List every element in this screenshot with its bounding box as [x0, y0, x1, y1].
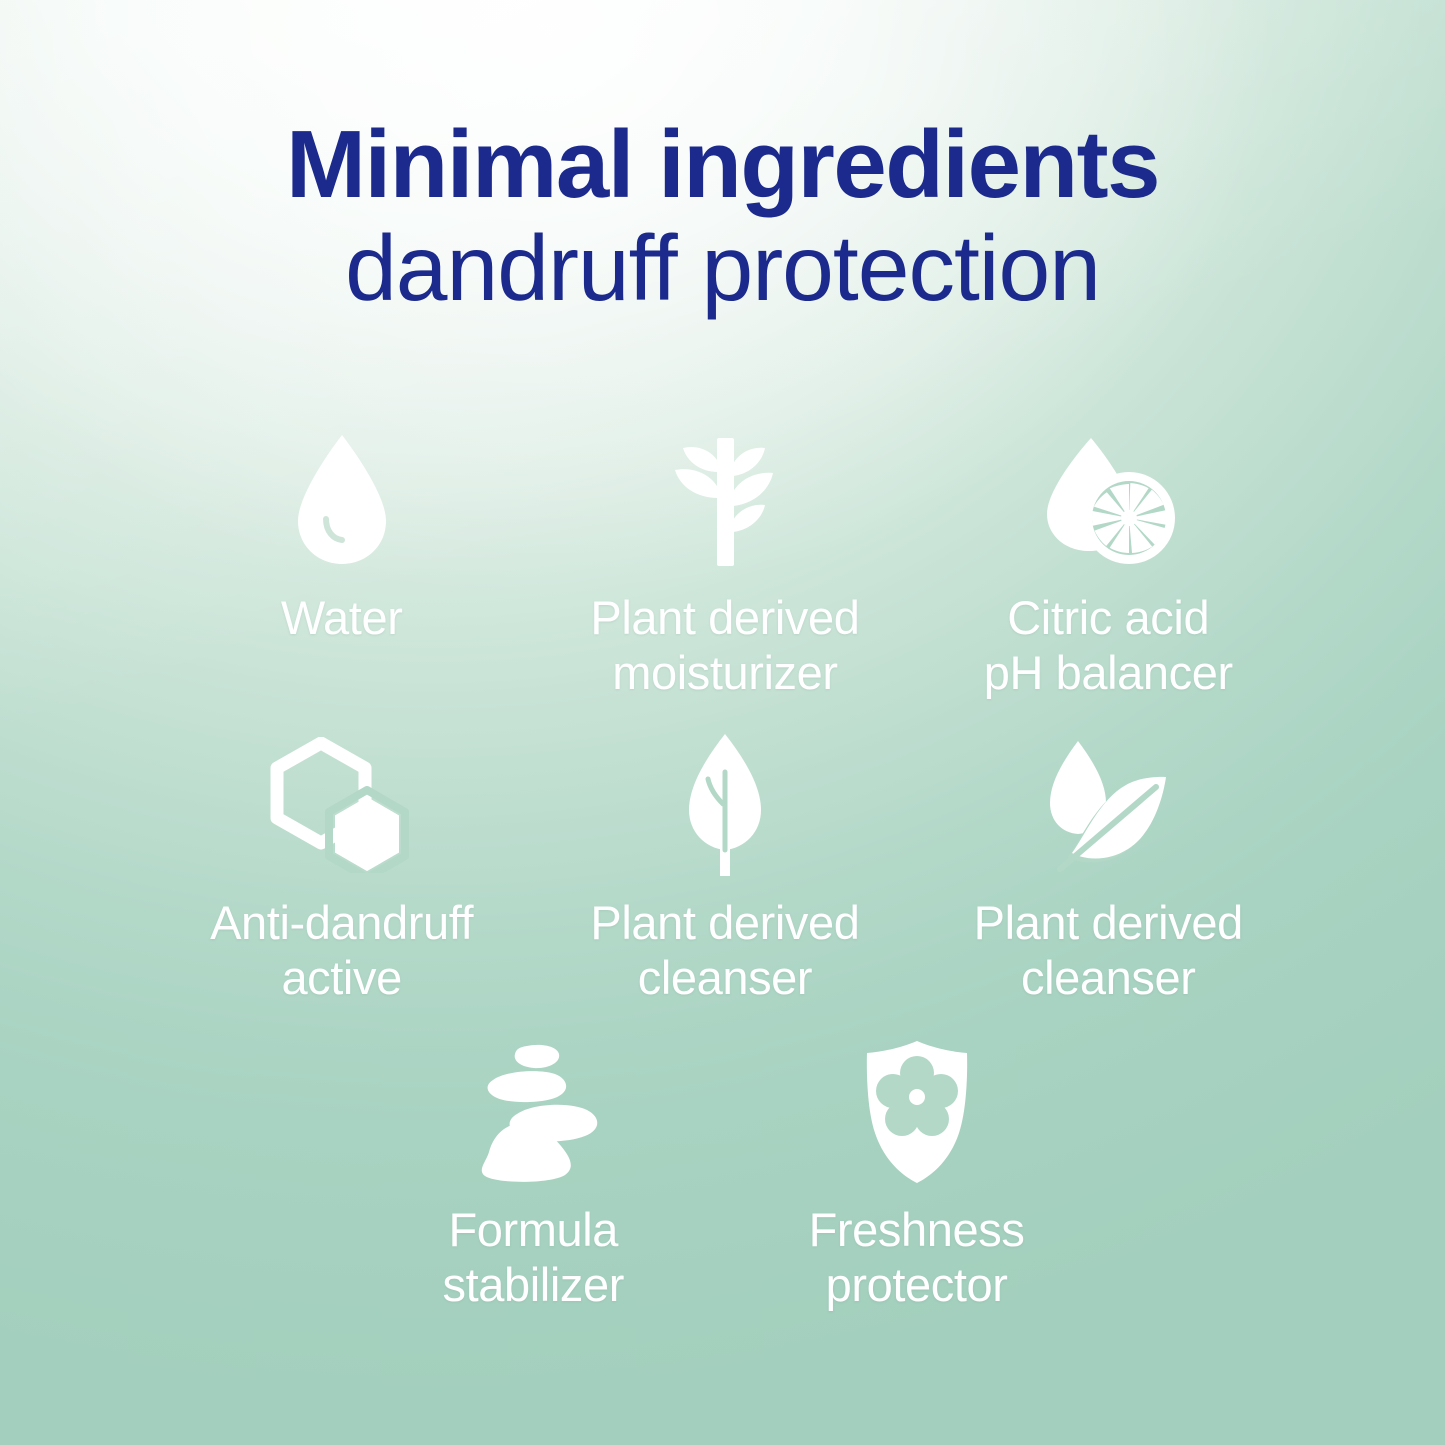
ingredient-label: Citric acid pH balancer — [984, 590, 1233, 701]
ingredient-label: Plant derived moisturizer — [590, 590, 859, 701]
stacked-stones-icon — [459, 1032, 607, 1192]
ingredient-label: Formula stabilizer — [443, 1202, 624, 1313]
ingredient-label: Water — [281, 590, 403, 645]
ingredient-item-citric-acid: Citric acid pH balancer — [917, 420, 1300, 701]
ingredient-label: Plant derived cleanser — [590, 895, 859, 1006]
ingredient-label: Freshness protector — [809, 1202, 1025, 1313]
page-title: Minimal ingredients dandruff protection — [0, 116, 1445, 324]
ingredients-grid: Water — [150, 420, 1300, 1313]
ingredient-item-plant-cleanser-2: Plant derived cleanser — [917, 725, 1300, 1006]
ingredient-item-formula-stabilizer: Formula stabilizer — [342, 1032, 725, 1313]
hexagon-molecule-icon — [269, 725, 415, 885]
citrus-slice-droplet-icon — [1033, 420, 1183, 580]
ingredient-item-freshness-protector: Freshness protector — [725, 1032, 1108, 1313]
shield-flower-icon — [861, 1032, 973, 1192]
page-title-line-1: Minimal ingredients — [0, 116, 1445, 214]
ingredient-label: Anti-dandruff active — [210, 895, 473, 1006]
page-title-line-2: dandruff protection — [0, 214, 1445, 324]
ingredient-label: Plant derived cleanser — [974, 895, 1243, 1006]
ingredients-row-3: Formula stabilizer — [150, 1032, 1300, 1313]
water-droplet-icon — [292, 420, 392, 580]
plant-stem-leaves-icon — [665, 420, 785, 580]
ingredients-poster: Minimal ingredients dandruff protection … — [0, 0, 1445, 1445]
single-leaf-icon — [679, 725, 771, 885]
ingredient-item-anti-dandruff: Anti-dandruff active — [150, 725, 533, 1006]
ingredients-row-2: Anti-dandruff active Plant derived clea — [150, 725, 1300, 1006]
double-leaf-icon — [1034, 725, 1182, 885]
ingredient-item-plant-cleanser-1: Plant derived cleanser — [533, 725, 916, 1006]
ingredients-row-1: Water — [150, 420, 1300, 701]
ingredient-item-plant-moisturizer: Plant derived moisturizer — [533, 420, 916, 701]
ingredient-item-water: Water — [150, 420, 533, 645]
